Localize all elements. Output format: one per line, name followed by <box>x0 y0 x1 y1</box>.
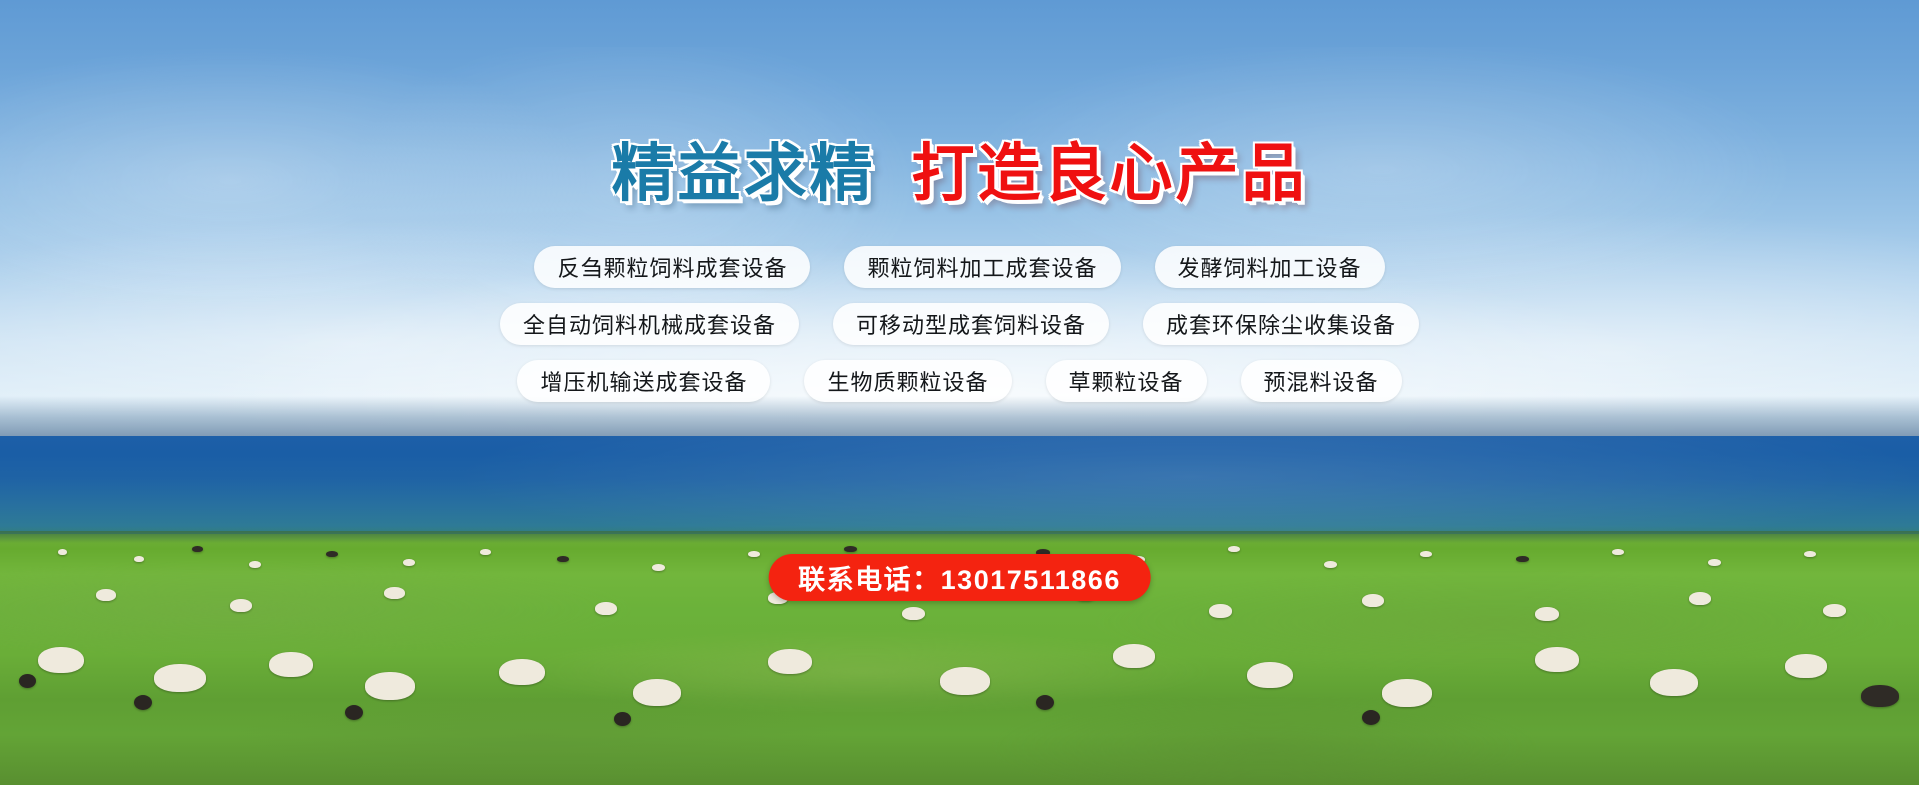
sheep <box>384 587 405 599</box>
sheep <box>230 599 252 612</box>
sheep <box>1650 669 1698 696</box>
sheep <box>269 652 313 677</box>
sheep <box>1247 662 1293 688</box>
sheep <box>38 647 84 673</box>
promotional-banner: 精益求精打造良心产品 反刍颗粒饲料成套设备 颗粒饲料加工成套设备 发酵饲料加工设… <box>0 0 1919 785</box>
sheep <box>1861 685 1899 707</box>
contact-phone-banner[interactable]: 联系电话：13017511866 <box>768 554 1151 601</box>
product-pill[interactable]: 颗粒饲料加工成套设备 <box>844 246 1120 288</box>
sheep <box>1708 559 1721 566</box>
sheep <box>96 589 116 601</box>
sheep <box>902 607 925 620</box>
sheep <box>768 649 812 674</box>
sheep <box>595 602 617 615</box>
sheep <box>1689 592 1711 605</box>
product-pill[interactable]: 发酵饲料加工设备 <box>1155 246 1385 288</box>
sheep <box>1420 551 1432 557</box>
sheep <box>1228 546 1240 552</box>
sheep <box>1113 644 1155 668</box>
product-pill[interactable]: 全自动饲料机械成套设备 <box>500 303 799 345</box>
sheep <box>748 551 760 557</box>
headline-segment-blue: 精益求精 <box>612 139 876 209</box>
sheep <box>326 551 338 557</box>
product-pill[interactable]: 可移动型成套饲料设备 <box>833 303 1109 345</box>
sheep <box>134 556 144 562</box>
sheep <box>1612 549 1624 555</box>
sheep <box>1324 561 1337 568</box>
sheep <box>499 659 545 685</box>
contact-phone-text: 联系电话：13017511866 <box>798 558 1121 597</box>
sheep <box>192 546 203 552</box>
sheep <box>633 679 681 706</box>
sheep <box>844 546 857 552</box>
product-pill[interactable]: 成套环保除尘收集设备 <box>1143 303 1419 345</box>
sheep <box>1535 647 1579 672</box>
product-row-2: 全自动饲料机械成套设备 可移动型成套饲料设备 成套环保除尘收集设备 <box>0 303 1919 345</box>
sheep <box>403 559 415 566</box>
sheep <box>1785 654 1827 678</box>
sheep <box>154 664 206 692</box>
product-pill[interactable]: 增压机输送成套设备 <box>517 360 770 402</box>
sheep <box>1535 607 1559 621</box>
sheep <box>1516 556 1529 562</box>
sheep <box>1823 604 1846 617</box>
product-row-1: 反刍颗粒饲料成套设备 颗粒饲料加工成套设备 发酵饲料加工设备 <box>0 246 1919 288</box>
sheep <box>58 549 67 555</box>
sheep <box>1209 604 1232 618</box>
sheep <box>1804 551 1816 557</box>
product-row-3: 增压机输送成套设备 生物质颗粒设备 草颗粒设备 预混料设备 <box>0 360 1919 402</box>
lake-shimmer <box>0 436 1919 538</box>
sheep <box>1362 594 1384 607</box>
sheep <box>365 672 415 700</box>
sheep <box>652 564 665 571</box>
sheep <box>249 561 261 568</box>
product-pill[interactable]: 生物质颗粒设备 <box>804 360 1011 402</box>
product-pill[interactable]: 反刍颗粒饲料成套设备 <box>534 246 810 288</box>
sheep-head <box>19 674 36 688</box>
headline-segment-red: 打造良心产品 <box>912 139 1308 209</box>
product-pill[interactable]: 预混料设备 <box>1241 360 1402 402</box>
sheep-head <box>134 695 152 710</box>
product-pill[interactable]: 草颗粒设备 <box>1046 360 1207 402</box>
sheep <box>557 556 569 562</box>
sheep-head <box>614 712 631 726</box>
sheep <box>480 549 491 555</box>
sheep-head <box>345 705 363 720</box>
sheep-head <box>1036 695 1054 710</box>
product-category-list: 反刍颗粒饲料成套设备 颗粒饲料加工成套设备 发酵饲料加工设备 全自动饲料机械成套… <box>0 246 1919 417</box>
page-title: 精益求精打造良心产品 <box>0 143 1919 206</box>
sheep <box>1382 679 1432 707</box>
sheep <box>940 667 990 695</box>
sheep-head <box>1362 710 1380 725</box>
